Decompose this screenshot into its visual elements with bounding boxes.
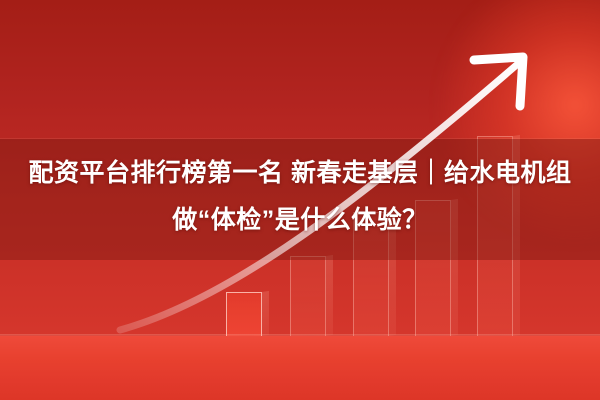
promo-banner: 配资平台排行榜第一名 新春走基层｜给水电机组做“体检”是什么体验？ [0,0,600,400]
page-title: 配资平台排行榜第一名 新春走基层｜给水电机组做“体检”是什么体验？ [0,150,600,244]
